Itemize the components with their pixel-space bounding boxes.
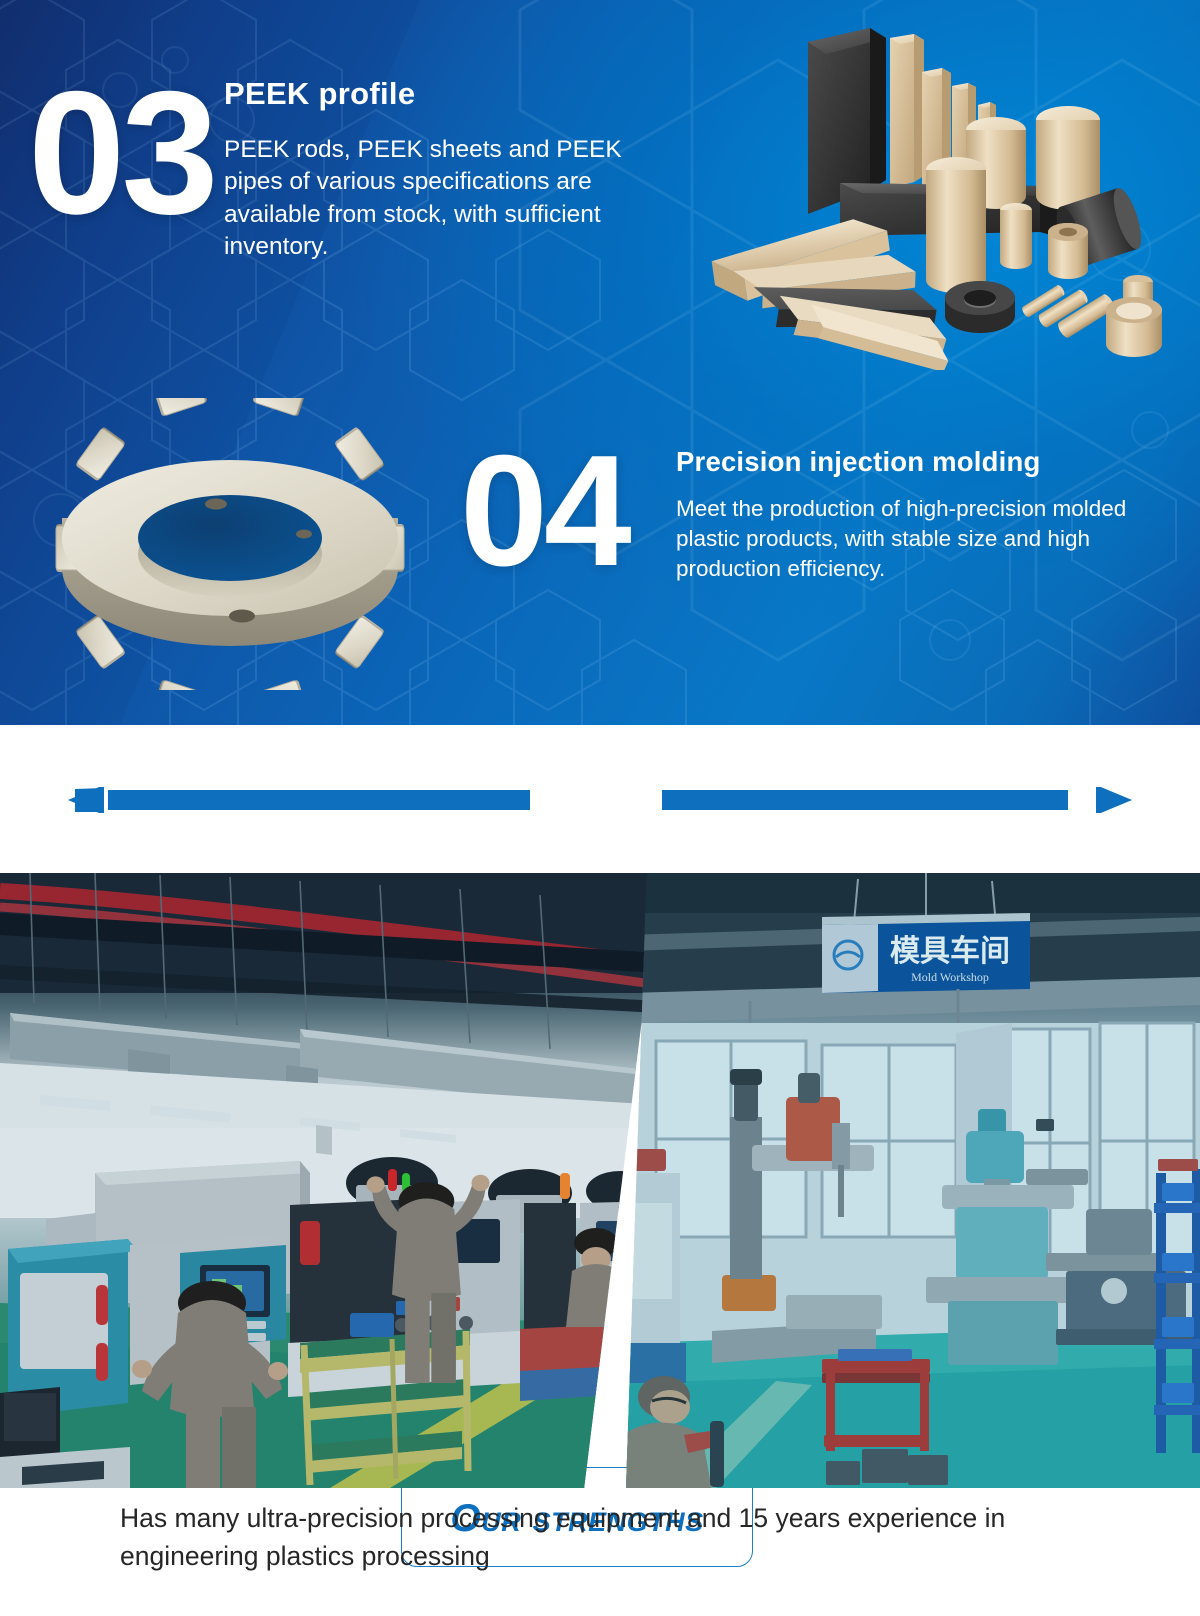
bottom-caption: Has many ultra-precision processing equi… (0, 1500, 1200, 1575)
section-number-04: 04 (460, 432, 628, 590)
peek-profile-products-photo (690, 10, 1190, 370)
section-04-body: Meet the production of high-precision mo… (676, 494, 1176, 584)
mold-workshop-photo: 模具车间 Mold Workshop (626, 873, 1200, 1488)
section-04-title: Precision injection molding (676, 446, 1176, 478)
section-03-body: PEEK rods, PEEK sheets and PEEK pipes of… (224, 134, 664, 263)
section-03-title: PEEK profile (224, 76, 664, 112)
double-arrow-divider-icon (0, 787, 1200, 813)
peek-gear-ring-photo (20, 398, 440, 690)
factory-photo-band: 模具车间 Mold Workshop (0, 873, 1200, 1488)
cnc-machining-workshop-photo (0, 873, 660, 1488)
section-number-03: 03 (28, 66, 215, 241)
top-blue-panel: 03 PEEK profile PEEK rods, PEEK sheets a… (0, 0, 1200, 725)
our-strengths-banner: Our strengths (0, 725, 1200, 873)
section-03: 03 PEEK profile PEEK rods, PEEK sheets a… (0, 0, 700, 400)
